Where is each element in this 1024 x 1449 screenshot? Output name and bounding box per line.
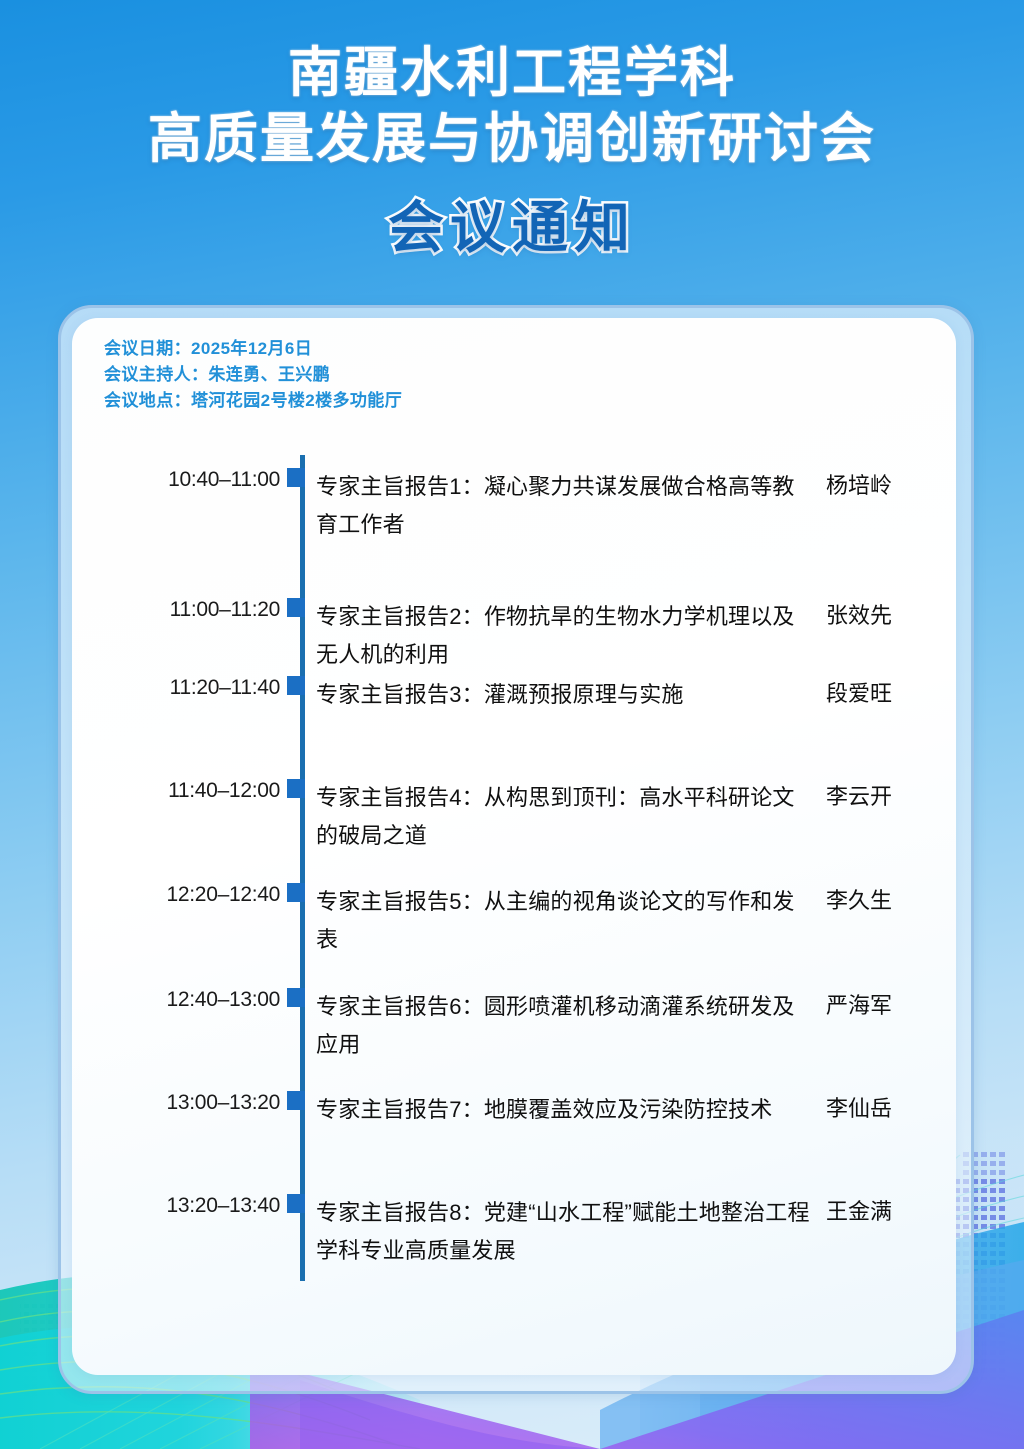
agenda-row-speaker: 段爱旺 [800, 676, 918, 708]
agenda-row-speaker: 杨培岭 [800, 468, 918, 500]
agenda-list: 10:40–11:00专家主旨报告1：凝心聚力共谋发展做合格高等教育工作者杨培岭… [0, 0, 1024, 1449]
agenda-row-speaker: 张效先 [800, 598, 918, 630]
timeline-marker-icon [287, 988, 305, 1007]
agenda-row-topic: 专家主旨报告8：党建“山水工程”赋能土地整治工程学科专业高质量发展 [316, 1194, 811, 1270]
timeline-marker-icon [287, 598, 305, 617]
conference-poster: 南疆水利工程学科 高质量发展与协调创新研讨会 会议通知 会议日期：2025年12… [0, 0, 1024, 1449]
agenda-row-time: 11:40–12:00 [110, 779, 280, 803]
timeline-marker-icon [287, 1194, 305, 1213]
agenda-row-time: 13:20–13:40 [110, 1194, 280, 1218]
agenda-row-topic: 专家主旨报告2：作物抗旱的生物水力学机理以及无人机的利用 [316, 598, 811, 674]
agenda-row-topic: 专家主旨报告5：从主编的视角谈论文的写作和发表 [316, 883, 811, 959]
agenda-row-time: 11:20–11:40 [110, 676, 280, 700]
agenda-row-time: 13:00–13:20 [110, 1091, 280, 1115]
agenda-row-topic: 专家主旨报告4：从构思到顶刊：高水平科研论文的破局之道 [316, 779, 811, 855]
agenda-row-time: 12:40–13:00 [110, 988, 280, 1012]
timeline-marker-icon [287, 468, 305, 487]
agenda-row-speaker: 李仙岳 [800, 1091, 918, 1123]
agenda-row-topic: 专家主旨报告1：凝心聚力共谋发展做合格高等教育工作者 [316, 468, 811, 544]
agenda-row-time: 12:20–12:40 [110, 883, 280, 907]
agenda-row-speaker: 李云开 [800, 779, 918, 811]
timeline-marker-icon [287, 1091, 305, 1110]
agenda-row-speaker: 王金满 [800, 1194, 918, 1226]
timeline-marker-icon [287, 883, 305, 902]
agenda-row-topic: 专家主旨报告7：地膜覆盖效应及污染防控技术 [316, 1091, 811, 1129]
timeline-marker-icon [287, 779, 305, 798]
agenda-row-topic: 专家主旨报告6：圆形喷灌机移动滴灌系统研发及应用 [316, 988, 811, 1064]
timeline-marker-icon [287, 676, 305, 695]
agenda-row-topic: 专家主旨报告3：灌溉预报原理与实施 [316, 676, 811, 714]
agenda-row-speaker: 李久生 [800, 883, 918, 915]
agenda-row-time: 10:40–11:00 [110, 468, 280, 492]
agenda-row-time: 11:00–11:20 [110, 598, 280, 622]
agenda-row-speaker: 严海军 [800, 988, 918, 1020]
